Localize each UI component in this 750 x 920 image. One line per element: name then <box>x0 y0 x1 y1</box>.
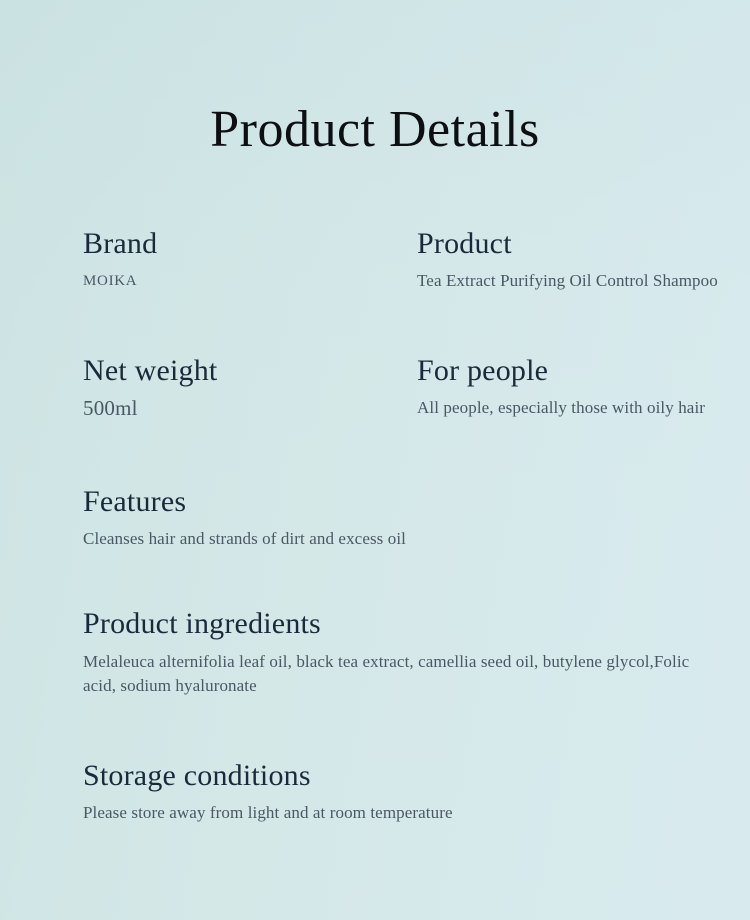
page-title: Product Details <box>0 0 750 156</box>
field-label-storage: Storage conditions <box>83 760 703 792</box>
field-label-ingredients: Product ingredients <box>83 608 703 640</box>
field-value-features: Cleanses hair and strands of dirt and ex… <box>83 527 703 551</box>
field-value-brand: MOIKA <box>83 271 417 292</box>
field-value-for-people: All people, especially those with oily h… <box>417 396 750 420</box>
field-product: Product Tea Extract Purifying Oil Contro… <box>417 228 750 294</box>
field-for-people: For people All people, especially those … <box>417 355 750 421</box>
details-row-brand-product: Brand MOIKA Product Tea Extract Purifyin… <box>83 228 750 294</box>
field-label-features: Features <box>83 486 703 518</box>
field-storage: Storage conditions Please store away fro… <box>83 760 703 826</box>
product-details-page: Product Details Brand MOIKA Product Tea … <box>0 0 750 920</box>
field-net-weight: Net weight 500ml <box>83 355 417 424</box>
field-features: Features Cleanses hair and strands of di… <box>83 486 703 552</box>
field-value-product: Tea Extract Purifying Oil Control Shampo… <box>417 269 750 293</box>
field-value-net-weight: 500ml <box>83 394 417 424</box>
details-row-storage: Storage conditions Please store away fro… <box>83 760 750 826</box>
field-ingredients: Product ingredients Melaleuca alternifol… <box>83 608 703 698</box>
details-row-weight-people: Net weight 500ml For people All people, … <box>83 355 750 424</box>
field-label-net-weight: Net weight <box>83 355 417 387</box>
field-value-ingredients: Melaleuca alternifolia leaf oil, black t… <box>83 650 703 698</box>
field-label-product: Product <box>417 228 750 260</box>
details-row-features: Features Cleanses hair and strands of di… <box>83 486 750 552</box>
details-row-ingredients: Product ingredients Melaleuca alternifol… <box>83 608 750 698</box>
field-brand: Brand MOIKA <box>83 228 417 293</box>
field-value-storage: Please store away from light and at room… <box>83 801 703 825</box>
field-label-brand: Brand <box>83 228 417 260</box>
details-content: Brand MOIKA Product Tea Extract Purifyin… <box>0 228 750 825</box>
field-label-for-people: For people <box>417 355 750 387</box>
